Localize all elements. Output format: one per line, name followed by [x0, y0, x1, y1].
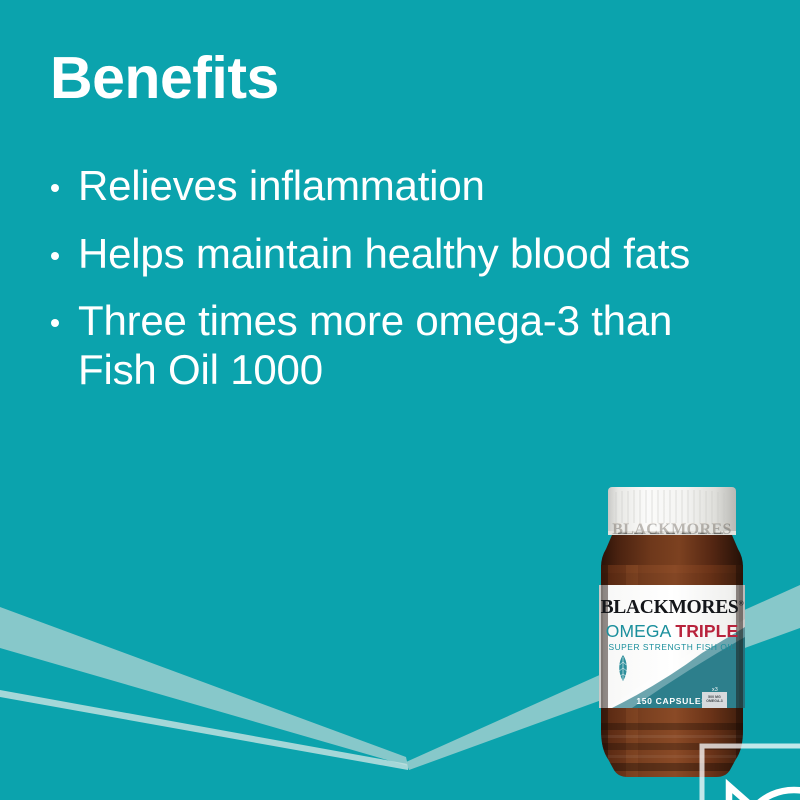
bullet-dot-icon	[51, 319, 59, 327]
benefit-text: Helps maintain healthy blood fats	[78, 230, 690, 277]
benefit-text: Three times more omega-3 than Fish Oil 1…	[78, 297, 672, 393]
promo-banner: Benefits Relieves inflammation Helps mai…	[0, 0, 800, 800]
product-descriptor: SUPER STRENGTH FISH OIL	[592, 642, 752, 652]
ribbon-left-band	[0, 607, 408, 766]
brand-name-text: BLACKMORES	[601, 597, 739, 618]
bottle-shoulder	[601, 535, 743, 567]
dose-nutrient: OMEGA-3	[706, 700, 723, 704]
benefits-list: Relieves inflammation Helps maintain hea…	[50, 162, 720, 395]
registered-mark: ®	[738, 600, 743, 608]
bullet-dot-icon	[51, 252, 59, 260]
brand-name: BLACKMORES®	[592, 597, 752, 619]
product-name: OMEGA TRIPLE	[592, 621, 752, 642]
list-item: Three times more omega-3 than Fish Oil 1…	[50, 297, 720, 394]
ribbon-vertex-stroke	[0, 690, 408, 770]
benefit-text: Relieves inflammation	[78, 162, 485, 209]
product-bottle-image: BLACKMORES BLACKMORES® OMEGA TRIPLE SUPE…	[592, 487, 752, 783]
bullet-dot-icon	[51, 184, 59, 192]
omega3-dose-badge: 500 MG OMEGA-3	[702, 692, 727, 708]
product-name-triple: TRIPLE	[675, 621, 738, 641]
page-title: Benefits	[50, 47, 279, 110]
list-item: Relieves inflammation	[50, 162, 720, 211]
product-name-omega: OMEGA	[606, 621, 671, 641]
list-item: Helps maintain healthy blood fats	[50, 230, 720, 279]
embossed-brand-text: BLACKMORES	[592, 520, 752, 538]
